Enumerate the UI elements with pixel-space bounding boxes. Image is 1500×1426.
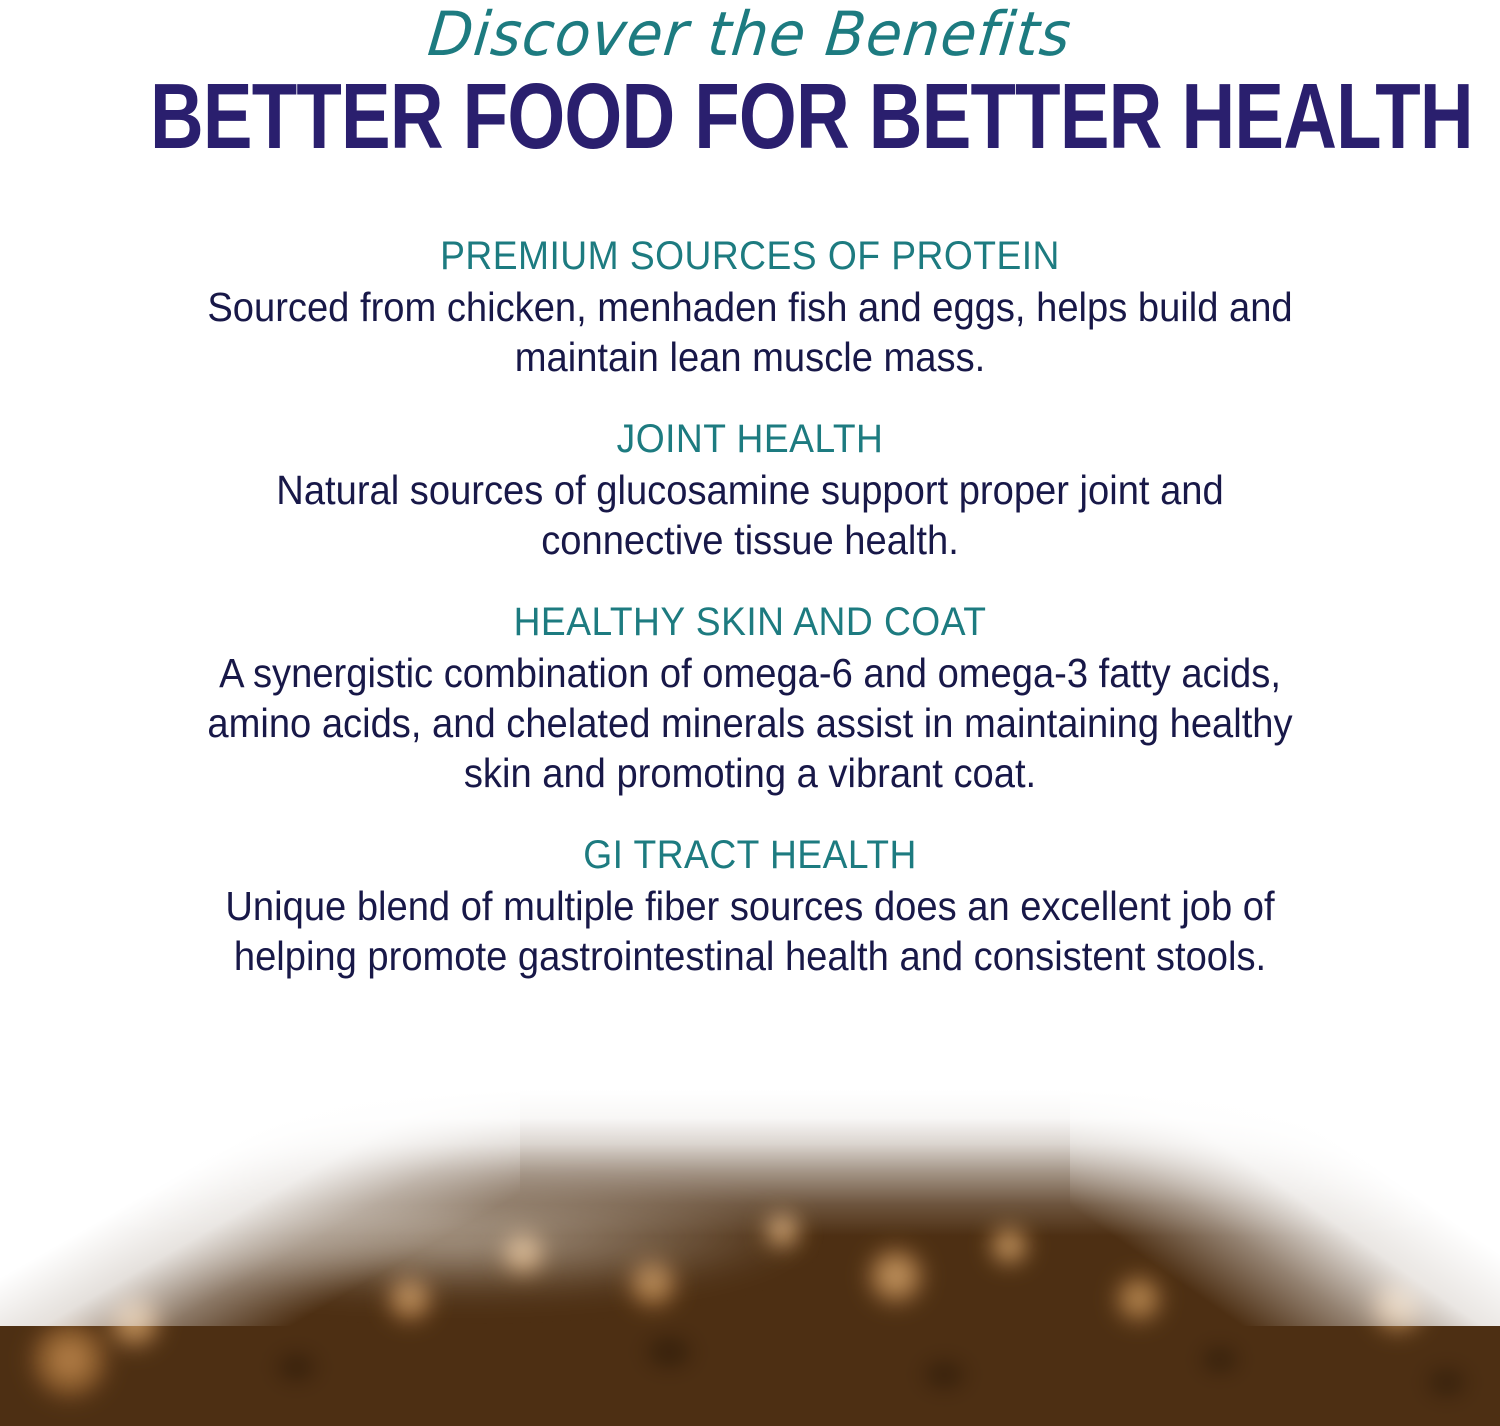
benefit-body: Unique blend of multiple fiber sources d… (201, 881, 1298, 981)
benefit-heading: JOINT HEALTH (201, 415, 1298, 463)
benefit-item: JOINT HEALTH Natural sources of glucosam… (160, 415, 1340, 565)
benefits-list: PREMIUM SOURCES OF PROTEIN Sourced from … (0, 232, 1500, 981)
benefit-body: A synergistic combination of omega-6 and… (201, 648, 1298, 798)
kibble-photo-base (0, 1026, 1500, 1426)
benefit-item: GI TRACT HEALTH Unique blend of multiple… (160, 831, 1340, 981)
benefit-body: Natural sources of glucosamine support p… (201, 465, 1298, 565)
benefit-heading: GI TRACT HEALTH (201, 831, 1298, 879)
script-subtitle: Discover the Benefits (0, 0, 1500, 68)
benefit-heading: PREMIUM SOURCES OF PROTEIN (201, 232, 1298, 280)
page-title: BETTER FOOD FOR BETTER HEALTH (150, 68, 1350, 164)
product-benefits-panel: Discover the Benefits BETTER FOOD FOR BE… (0, 0, 1500, 1426)
header: Discover the Benefits BETTER FOOD FOR BE… (0, 0, 1500, 164)
kibble-texture (0, 1086, 1500, 1426)
benefit-item: HEALTHY SKIN AND COAT A synergistic comb… (160, 598, 1340, 798)
benefit-heading: HEALTHY SKIN AND COAT (201, 598, 1298, 646)
kibble-photo (0, 1026, 1500, 1426)
benefit-item: PREMIUM SOURCES OF PROTEIN Sourced from … (160, 232, 1340, 382)
benefit-body: Sourced from chicken, menhaden fish and … (201, 282, 1298, 382)
